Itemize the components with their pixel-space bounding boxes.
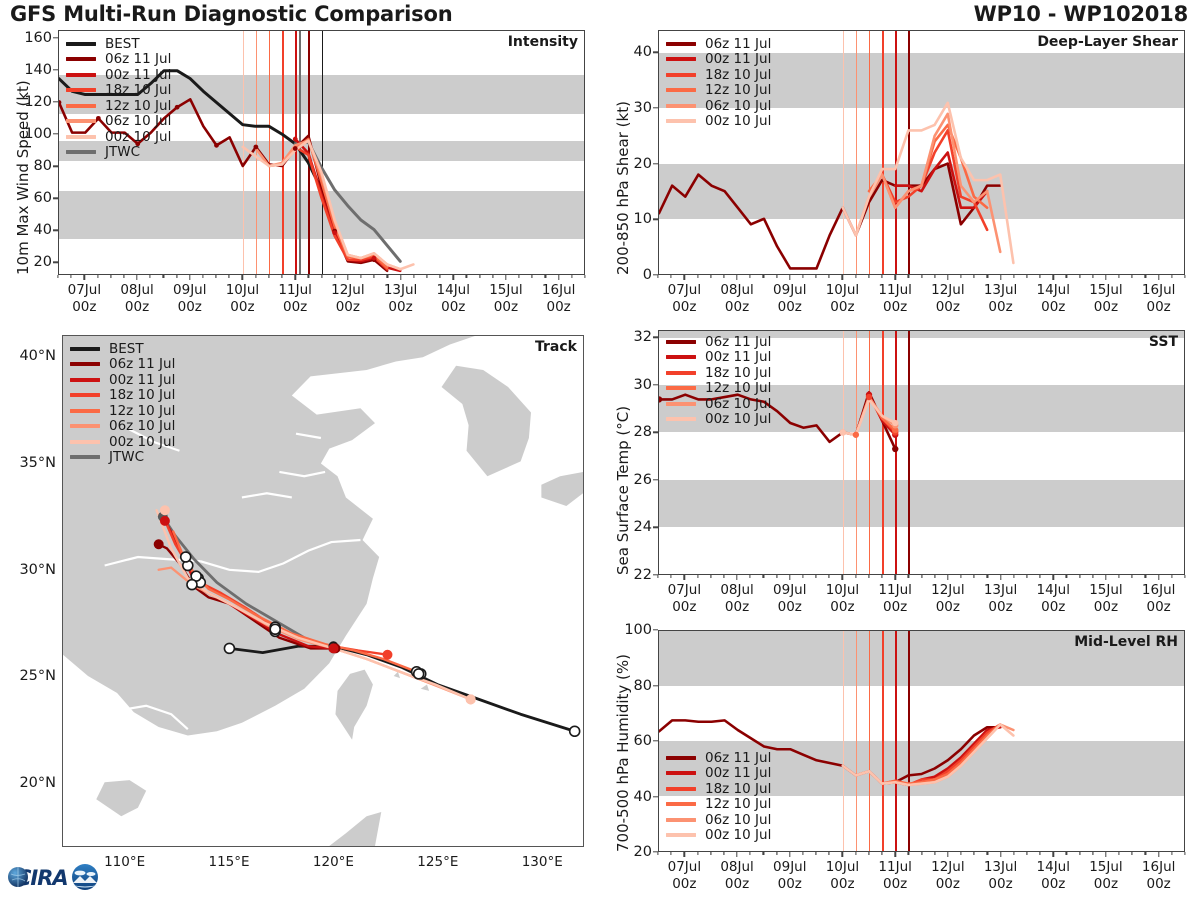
x-tick-hour: 00z — [178, 299, 202, 315]
x-minor-tick — [1013, 852, 1014, 855]
x-tick-mark — [894, 275, 895, 280]
x-minor-tick — [123, 275, 124, 278]
x-tick-date: 12Jul — [931, 582, 964, 598]
track-position-marker — [270, 624, 280, 634]
legend-color-swatch — [70, 424, 100, 428]
x-minor-tick — [202, 275, 203, 278]
x-tick-hour: 00z — [1147, 599, 1171, 615]
legend-entry: 06z 11 Jul — [666, 334, 771, 350]
rh-y-axis-label: 700-500 hPa Humidity (%) — [614, 654, 632, 852]
lon-tick-label: 125°E — [417, 854, 458, 871]
series-endpoint-marker — [658, 396, 662, 402]
x-minor-tick — [387, 275, 388, 278]
x-tick-mark — [558, 275, 559, 280]
legend-color-swatch — [666, 42, 696, 46]
x-minor-tick — [1171, 275, 1172, 278]
legend-color-swatch — [666, 340, 696, 344]
x-tick-hour: 00z — [778, 599, 802, 615]
x-tick-hour: 00z — [1147, 876, 1171, 892]
x-tick-hour: 00z — [725, 299, 749, 315]
y-tick-mark — [653, 740, 658, 741]
x-tick-date: 11Jul — [878, 282, 911, 298]
x-tick-date: 15Jul — [1089, 859, 1122, 875]
legend-color-swatch — [66, 119, 96, 123]
legend-entry: 18z 10 Jul — [666, 365, 771, 381]
track-position-marker — [154, 539, 164, 549]
x-tick-label: 07Jul00z — [668, 859, 701, 894]
track-position-marker — [328, 643, 338, 653]
x-minor-tick — [960, 852, 961, 855]
x-minor-tick — [960, 275, 961, 278]
legend-color-swatch — [66, 135, 96, 139]
legend-entry: 00z 11 Jul — [666, 350, 771, 366]
series-point-marker — [175, 105, 180, 110]
shear-legend: 06z 11 Jul00z 11 Jul18z 10 Jul12z 10 Jul… — [666, 36, 771, 129]
y-tick-label: 40 — [634, 44, 652, 60]
x-tick-date: 16Jul — [1142, 282, 1175, 298]
x-tick-hour: 00z — [1147, 299, 1171, 315]
legend-entry-label: 00z 11 Jul — [109, 372, 175, 388]
legend-entry: 06z 11 Jul — [666, 750, 771, 766]
legend-entry: 12z 10 Jul — [666, 797, 771, 813]
x-tick-date: 13Jul — [984, 859, 1017, 875]
track-position-marker — [160, 516, 170, 526]
y-tick-label: 30 — [634, 100, 652, 116]
x-tick-label: 16Jul00z — [1142, 282, 1175, 317]
x-minor-tick — [855, 575, 856, 578]
lat-tick-label: 40°N — [19, 348, 56, 364]
legend-entry: 00z 11 Jul — [70, 372, 175, 388]
y-tick-label: 20 — [634, 156, 652, 172]
x-tick-mark — [842, 575, 843, 580]
legend-color-swatch — [70, 409, 100, 413]
panel-shear: Deep-Layer Shear 010203040 07Jul00z08Jul… — [658, 30, 1185, 275]
x-tick-mark — [894, 575, 895, 580]
legend-entry: JTWC — [70, 450, 175, 466]
x-minor-tick — [1171, 852, 1172, 855]
x-tick-hour: 00z — [72, 299, 96, 315]
x-minor-tick — [1145, 852, 1146, 855]
x-tick-label: 15Jul00z — [1089, 859, 1122, 894]
x-tick-label: 16Jul00z — [542, 282, 575, 317]
x-tick-date: 10Jul — [826, 582, 859, 598]
legend-entry: 06z 10 Jul — [666, 396, 771, 412]
x-tick-mark — [294, 275, 295, 280]
x-minor-tick — [1119, 275, 1120, 278]
legend-entry-label: 12z 10 Jul — [105, 98, 171, 114]
legend-entry-label: 06z 11 Jul — [109, 356, 175, 372]
legend-color-swatch — [666, 833, 696, 837]
x-minor-tick — [150, 275, 151, 278]
x-minor-tick — [723, 575, 724, 578]
legend-entry-label: 00z 10 Jul — [705, 411, 771, 427]
x-tick-hour: 00z — [725, 876, 749, 892]
x-tick-date: 11Jul — [878, 859, 911, 875]
x-minor-tick — [268, 275, 269, 278]
legend-entry-label: 18z 10 Jul — [705, 67, 771, 83]
legend-entry-label: 06z 11 Jul — [705, 36, 771, 52]
x-minor-tick — [1079, 852, 1080, 855]
intensity-legend: BEST06z 11 Jul00z 11 Jul18z 10 Jul12z 10… — [66, 36, 171, 160]
x-tick-label: 10Jul00z — [826, 582, 859, 617]
x-minor-tick — [934, 275, 935, 278]
series-line — [856, 114, 1000, 252]
legend-entry-label: 06z 10 Jul — [705, 396, 771, 412]
x-minor-tick — [868, 575, 869, 578]
x-tick-mark — [242, 275, 243, 280]
x-tick-mark — [1105, 575, 1106, 580]
legend-color-swatch — [666, 787, 696, 791]
legend-entry-label: 00z 11 Jul — [705, 51, 771, 67]
x-tick-mark — [1105, 852, 1106, 857]
x-minor-tick — [57, 275, 58, 278]
x-tick-date: 08Jul — [120, 282, 153, 298]
x-minor-tick — [763, 275, 764, 278]
x-tick-mark — [947, 575, 948, 580]
x-tick-date: 10Jul — [826, 859, 859, 875]
x-minor-tick — [710, 575, 711, 578]
x-tick-hour: 00z — [830, 299, 854, 315]
legend-color-swatch — [66, 88, 96, 92]
track-position-marker — [224, 643, 234, 653]
x-minor-tick — [671, 575, 672, 578]
series-endpoint-marker — [866, 394, 872, 400]
x-tick-label: 13Jul00z — [984, 859, 1017, 894]
x-tick-mark — [1158, 852, 1159, 857]
x-minor-tick — [829, 575, 830, 578]
lon-tick-label: 115°E — [209, 854, 250, 871]
x-minor-tick — [1184, 275, 1185, 278]
rh-legend: 06z 11 Jul00z 11 Jul18z 10 Jul12z 10 Jul… — [666, 750, 771, 843]
x-tick-date: 14Jul — [437, 282, 470, 298]
x-minor-tick — [110, 275, 111, 278]
y-tick-label: 80 — [634, 678, 652, 694]
x-tick-date: 13Jul — [384, 282, 417, 298]
x-tick-label: 15Jul00z — [1089, 582, 1122, 617]
x-minor-tick — [216, 275, 217, 278]
x-tick-mark — [1105, 275, 1106, 280]
legend-entry-label: 00z 11 Jul — [705, 765, 771, 781]
y-tick-mark — [653, 432, 658, 433]
x-minor-tick — [1184, 575, 1185, 578]
x-tick-date: 14Jul — [1037, 582, 1070, 598]
x-minor-tick — [763, 575, 764, 578]
x-tick-label: 09Jul00z — [773, 582, 806, 617]
x-tick-label: 12Jul00z — [931, 282, 964, 317]
legend-entry-label: 06z 11 Jul — [705, 334, 771, 350]
legend-color-swatch — [66, 150, 96, 154]
x-tick-mark — [789, 275, 790, 280]
x-minor-tick — [723, 275, 724, 278]
y-tick-mark — [53, 197, 58, 198]
x-tick-hour: 00z — [336, 299, 360, 315]
legend-entry: 18z 10 Jul — [666, 67, 771, 83]
x-tick-date: 10Jul — [826, 282, 859, 298]
x-tick-mark — [1053, 852, 1054, 857]
x-tick-mark — [1053, 575, 1054, 580]
x-tick-hour: 00z — [1094, 599, 1118, 615]
legend-color-swatch — [66, 42, 96, 46]
x-minor-tick — [176, 275, 177, 278]
storm-identifier: WP10 - WP102018 — [974, 2, 1188, 26]
x-tick-date: 10Jul — [226, 282, 259, 298]
series-line — [843, 103, 1014, 263]
x-tick-date: 16Jul — [1142, 582, 1175, 598]
sst-panel-label: SST — [1149, 334, 1178, 350]
series-point-marker — [293, 137, 298, 142]
legend-entry: 06z 11 Jul — [70, 357, 175, 373]
legend-entry-label: 12z 10 Jul — [705, 82, 771, 98]
series-line — [659, 164, 1000, 269]
legend-color-swatch — [666, 88, 696, 92]
y-tick-label: 32 — [634, 329, 652, 345]
x-tick-label: 15Jul00z — [1089, 282, 1122, 317]
x-minor-tick — [334, 275, 335, 278]
shear-y-axis-label: 200-850 hPa Shear (kt) — [614, 101, 632, 275]
x-minor-tick — [816, 275, 817, 278]
rh-panel-label: Mid-Level RH — [1074, 634, 1178, 650]
x-tick-hour: 00z — [547, 299, 571, 315]
x-tick-mark — [842, 275, 843, 280]
legend-entry-label: 00z 10 Jul — [705, 827, 771, 843]
x-minor-tick — [439, 275, 440, 278]
legend-color-swatch — [666, 371, 696, 375]
x-minor-tick — [1013, 575, 1014, 578]
x-minor-tick — [987, 852, 988, 855]
series-line — [869, 725, 1000, 784]
series-line — [282, 147, 387, 269]
x-tick-label: 13Jul00z — [384, 282, 417, 317]
x-minor-tick — [657, 575, 658, 578]
x-minor-tick — [321, 275, 322, 278]
x-minor-tick — [1026, 852, 1027, 855]
legend-entry: 12z 10 Jul — [666, 381, 771, 397]
legend-entry: 18z 10 Jul — [70, 388, 175, 404]
y-tick-mark — [653, 219, 658, 220]
x-tick-mark — [1000, 575, 1001, 580]
x-tick-label: 08Jul00z — [720, 582, 753, 617]
x-minor-tick — [710, 275, 711, 278]
x-tick-date: 08Jul — [720, 282, 753, 298]
legend-color-swatch — [666, 119, 696, 123]
y-tick-mark — [53, 101, 58, 102]
series-point-marker — [253, 145, 258, 150]
sst-y-axis-label: Sea Surface Temp (°C) — [614, 406, 632, 575]
x-tick-date: 07Jul — [668, 582, 701, 598]
x-minor-tick — [987, 275, 988, 278]
x-minor-tick — [723, 852, 724, 855]
x-tick-date: 16Jul — [542, 282, 575, 298]
track-position-marker — [466, 694, 476, 704]
legend-entry-label: 00z 10 Jul — [705, 113, 771, 129]
y-tick-mark — [653, 629, 658, 630]
x-tick-date: 09Jul — [173, 282, 206, 298]
x-tick-hour: 00z — [988, 876, 1012, 892]
x-tick-label: 10Jul00z — [826, 282, 859, 317]
x-tick-hour: 00z — [494, 299, 518, 315]
x-tick-mark — [505, 275, 506, 280]
x-tick-date: 07Jul — [668, 859, 701, 875]
x-tick-date: 08Jul — [720, 859, 753, 875]
x-tick-mark — [1000, 275, 1001, 280]
legend-entry-label: JTWC — [109, 449, 144, 465]
x-tick-hour: 00z — [725, 599, 749, 615]
x-tick-label: 10Jul00z — [826, 859, 859, 894]
x-tick-hour: 00z — [883, 599, 907, 615]
y-tick-label: 22 — [634, 567, 652, 583]
legend-entry: 06z 11 Jul — [66, 52, 171, 68]
legend-entry-label: 06z 10 Jul — [109, 418, 175, 434]
x-minor-tick — [974, 852, 975, 855]
x-tick-label: 14Jul00z — [1037, 282, 1070, 317]
x-minor-tick — [974, 275, 975, 278]
legend-entry-label: 12z 10 Jul — [705, 796, 771, 812]
legend-color-swatch — [70, 455, 100, 459]
y-tick-mark — [653, 479, 658, 480]
legend-entry: 18z 10 Jul — [66, 83, 171, 99]
y-tick-label: 40 — [34, 222, 52, 238]
y-tick-mark — [653, 163, 658, 164]
legend-entry-label: 12z 10 Jul — [705, 380, 771, 396]
x-tick-date: 07Jul — [668, 282, 701, 298]
x-minor-tick — [479, 275, 480, 278]
legend-entry-label: JTWC — [105, 144, 140, 160]
y-tick-mark — [53, 133, 58, 134]
y-tick-mark — [53, 261, 58, 262]
series-point-marker — [293, 146, 298, 151]
legend-entry-label: 00z 10 Jul — [109, 434, 175, 450]
y-tick-label: 28 — [634, 424, 652, 440]
series-point-marker — [214, 143, 219, 148]
x-minor-tick — [519, 275, 520, 278]
track-position-marker — [383, 650, 393, 660]
y-tick-label: 0 — [643, 267, 652, 283]
x-minor-tick — [657, 275, 658, 278]
x-minor-tick — [802, 575, 803, 578]
series-point-marker — [332, 230, 337, 235]
panel-track: Track 20°N25°N30°N35°N40°N 110°E115°E120… — [62, 335, 584, 847]
figure-title: GFS Multi-Run Diagnostic Comparison — [10, 2, 452, 26]
x-tick-date: 15Jul — [1089, 582, 1122, 598]
y-tick-mark — [653, 527, 658, 528]
legend-entry: 00z 11 Jul — [66, 67, 171, 83]
x-minor-tick — [776, 275, 777, 278]
series-point-marker — [372, 256, 377, 261]
legend-entry-label: 18z 10 Jul — [109, 387, 175, 403]
x-minor-tick — [1026, 575, 1027, 578]
y-tick-mark — [653, 685, 658, 686]
x-minor-tick — [908, 575, 909, 578]
x-tick-label: 09Jul00z — [773, 859, 806, 894]
x-minor-tick — [868, 852, 869, 855]
legend-color-swatch — [70, 362, 100, 366]
x-tick-hour: 00z — [1094, 876, 1118, 892]
legend-color-swatch — [666, 771, 696, 775]
legend-color-swatch — [70, 440, 100, 444]
x-minor-tick — [1039, 575, 1040, 578]
y-tick-label: 80 — [34, 158, 52, 174]
x-tick-label: 16Jul00z — [1142, 859, 1175, 894]
legend-color-swatch — [666, 402, 696, 406]
x-minor-tick — [987, 575, 988, 578]
x-minor-tick — [1119, 852, 1120, 855]
x-tick-mark — [736, 275, 737, 280]
y-tick-mark — [653, 796, 658, 797]
x-minor-tick — [1119, 575, 1120, 578]
legend-color-swatch — [66, 57, 96, 61]
x-minor-tick — [763, 852, 764, 855]
x-minor-tick — [802, 852, 803, 855]
legend-entry: 00z 10 Jul — [666, 412, 771, 428]
x-minor-tick — [934, 852, 935, 855]
sst-legend: 06z 11 Jul00z 11 Jul18z 10 Jul12z 10 Jul… — [666, 334, 771, 427]
legend-entry: 00z 10 Jul — [70, 434, 175, 450]
x-minor-tick — [710, 852, 711, 855]
y-tick-mark — [653, 336, 658, 337]
x-tick-date: 13Jul — [984, 582, 1017, 598]
y-tick-label: 140 — [24, 62, 52, 78]
x-minor-tick — [1132, 575, 1133, 578]
legend-entry: BEST — [70, 341, 175, 357]
shear-panel-label: Deep-Layer Shear — [1037, 34, 1178, 50]
x-tick-mark — [1158, 575, 1159, 580]
x-minor-tick — [671, 852, 672, 855]
x-tick-date: 16Jul — [1142, 859, 1175, 875]
x-tick-hour: 00z — [883, 299, 907, 315]
legend-entry: JTWC — [66, 145, 171, 161]
legend-entry-label: BEST — [105, 36, 140, 52]
x-minor-tick — [374, 275, 375, 278]
intensity-panel-label: Intensity — [508, 34, 578, 50]
y-tick-label: 100 — [624, 622, 652, 638]
legend-entry: 06z 10 Jul — [666, 98, 771, 114]
x-minor-tick — [697, 575, 698, 578]
x-minor-tick — [426, 275, 427, 278]
x-minor-tick — [881, 275, 882, 278]
x-minor-tick — [1184, 852, 1185, 855]
x-minor-tick — [1079, 575, 1080, 578]
x-minor-tick — [532, 275, 533, 278]
legend-entry: 12z 10 Jul — [66, 98, 171, 114]
x-minor-tick — [868, 275, 869, 278]
lon-tick-label: 120°E — [313, 854, 354, 871]
x-minor-tick — [360, 275, 361, 278]
x-minor-tick — [1066, 275, 1067, 278]
x-tick-hour: 00z — [1041, 599, 1065, 615]
x-tick-mark — [789, 852, 790, 857]
legend-entry-label: 18z 10 Jul — [705, 781, 771, 797]
x-tick-label: 16Jul00z — [1142, 582, 1175, 617]
y-tick-mark — [653, 107, 658, 108]
track-position-marker — [160, 505, 170, 515]
x-tick-hour: 00z — [883, 876, 907, 892]
legend-entry-label: 06z 10 Jul — [705, 812, 771, 828]
legend-entry-label: 06z 11 Jul — [705, 750, 771, 766]
panel-intensity: Intensity 20406080100120140160 07Jul00z0… — [58, 30, 585, 275]
x-minor-tick — [1092, 575, 1093, 578]
lat-tick-label: 20°N — [19, 775, 56, 791]
x-minor-tick — [255, 275, 256, 278]
x-minor-tick — [1132, 852, 1133, 855]
x-tick-hour: 00z — [283, 299, 307, 315]
legend-color-swatch — [666, 386, 696, 390]
x-minor-tick — [921, 575, 922, 578]
x-tick-mark — [400, 275, 401, 280]
cira-logo-svg: CIRA — [6, 856, 106, 896]
x-minor-tick — [97, 275, 98, 278]
x-minor-tick — [1171, 575, 1172, 578]
x-minor-tick — [697, 852, 698, 855]
